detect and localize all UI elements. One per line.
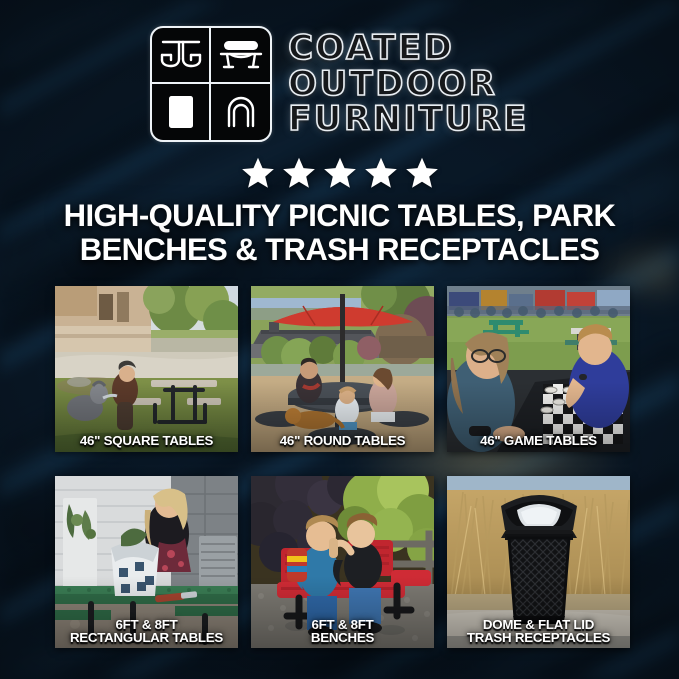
trash-receptacle-icon [152,84,211,140]
logo-wordmark: COATED OUTDOOR FURNITURE [288,31,529,137]
star-icon [241,156,275,190]
headline-line-2: BENCHES & TRASH RECEPTACLES [33,232,647,266]
star-rating [0,156,679,190]
product-caption: 6FT & 8FT BENCHES [255,618,430,645]
product-caption: 46" ROUND TABLES [255,434,430,448]
star-icon [364,156,398,190]
star-icon [282,156,316,190]
caption-line-1: 46" GAME TABLES [451,434,626,448]
park-bench-icon [211,28,270,84]
logo-icon-grid [150,26,272,142]
promo-poster: COATED OUTDOOR FURNITURE HIGH-QUALITY PI… [0,0,679,679]
product-tile-trash-receptacles[interactable]: DOME & FLAT LID TRASH RECEPTACLES [447,476,630,648]
logo-line-1: COATED [288,31,529,66]
logo-line-3: FURNITURE [288,102,529,137]
product-photo-game-tables [447,286,630,452]
product-tile-rectangular-tables[interactable]: 6FT & 8FT RECTANGULAR TABLES [55,476,238,648]
star-icon [323,156,357,190]
headline-line-1: HIGH-QUALITY PICNIC TABLES, PARK [33,198,647,232]
product-tile-game-tables[interactable]: 46" GAME TABLES [447,286,630,452]
product-tile-square-tables[interactable]: 46" SQUARE TABLES [55,286,238,452]
picnic-table-icon [152,28,211,84]
caption-line-1: 46" SQUARE TABLES [59,434,234,448]
product-caption: DOME & FLAT LID TRASH RECEPTACLES [451,618,626,645]
caption-line-2: BENCHES [255,631,430,645]
product-caption: 6FT & 8FT RECTANGULAR TABLES [59,618,234,645]
product-tile-benches[interactable]: 6FT & 8FT BENCHES [251,476,434,648]
product-tile-round-tables[interactable]: 46" ROUND TABLES [251,286,434,452]
star-icon [405,156,439,190]
product-caption: 46" SQUARE TABLES [59,434,234,448]
product-photo-round-tables [251,286,434,452]
caption-line-2: RECTANGULAR TABLES [59,631,234,645]
brand-logo: COATED OUTDOOR FURNITURE [0,26,679,142]
bike-rack-icon [211,84,270,140]
product-photo-square-tables [55,286,238,452]
caption-line-1: 46" ROUND TABLES [255,434,430,448]
logo-line-2: OUTDOOR [288,67,529,102]
product-caption: 46" GAME TABLES [451,434,626,448]
product-grid: 46" SQUARE TABLES [55,286,625,648]
page-title: HIGH-QUALITY PICNIC TABLES, PARK BENCHES… [33,198,647,267]
caption-line-2: TRASH RECEPTACLES [451,631,626,645]
